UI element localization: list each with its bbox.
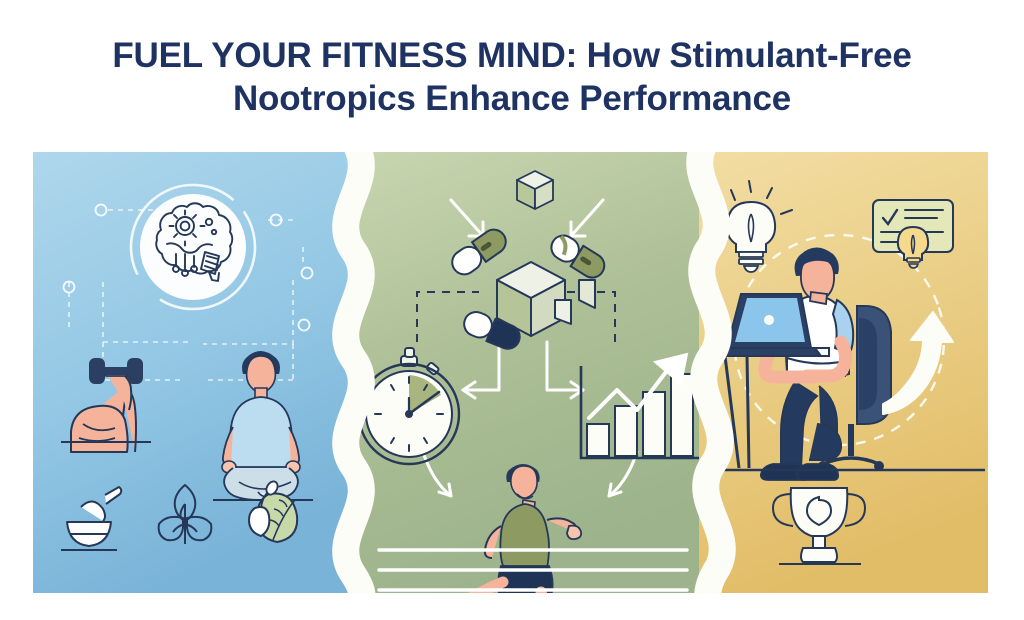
- page-title-line-2: Nootropics Enhance Performance: [60, 77, 964, 120]
- hero-illustration: [33, 152, 988, 593]
- supplement-performance-panel: [351, 152, 711, 593]
- focus-achievement-panel: [699, 152, 988, 593]
- panel-middle-artwork: [351, 152, 711, 593]
- brain-gear-circle-icon: [107, 161, 280, 334]
- person-laptop-desk-icon: [699, 247, 985, 480]
- stopwatch-icon: [359, 348, 459, 464]
- panel-left-artwork: [33, 152, 363, 593]
- mind-body-foundation-panel: [33, 152, 363, 593]
- certificate-lightbulb-icon: [873, 200, 953, 268]
- running-person-icon: [431, 464, 581, 593]
- small-cube-icon: [517, 171, 553, 209]
- trophy-icon: [773, 488, 865, 564]
- bar-chart-growth-icon: [581, 354, 699, 458]
- mortar-pestle-icon: [61, 487, 121, 550]
- flexing-arm-dumbbell-icon: [61, 358, 151, 452]
- lightbulb-idea-icon: [712, 181, 792, 272]
- page-title: FUEL YOUR FITNESS MIND: How Stimulant-Fr…: [0, 34, 1024, 120]
- leaf-plant-icon: [159, 485, 212, 544]
- meditating-person-icon: [213, 351, 313, 500]
- page-title-line-1: FUEL YOUR FITNESS MIND: How Stimulant-Fr…: [60, 34, 964, 77]
- upward-arrow-icon: [883, 312, 953, 414]
- panel-right-artwork: [699, 152, 988, 593]
